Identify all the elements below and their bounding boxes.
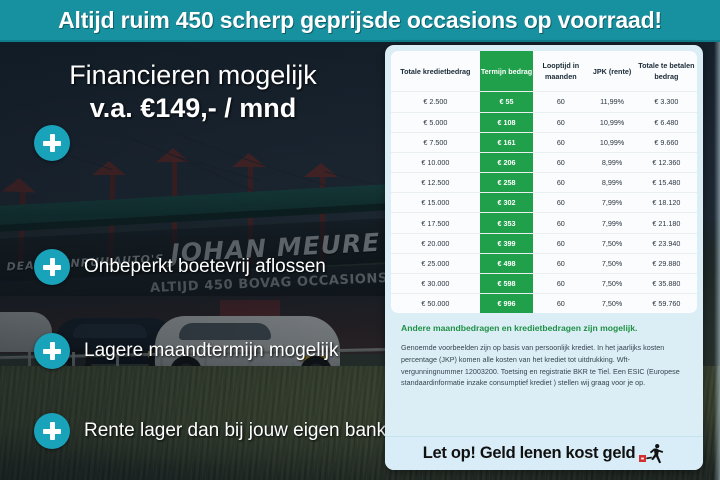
table-cell-totale-te-betalen: € 23.940 (636, 233, 697, 253)
table-cell-jpk: 10,99% (588, 132, 635, 152)
table-cell-termijnbedrag: € 258 (480, 173, 534, 193)
table-cell-kredietbedrag: € 10.000 (391, 152, 480, 172)
table-cell-kredietbedrag: € 15.000 (391, 193, 480, 213)
table-cell-kredietbedrag: € 25.000 (391, 253, 480, 273)
table-cell-termijnbedrag: € 996 (480, 294, 534, 314)
table-cell-kredietbedrag: € 20.000 (391, 233, 480, 253)
table-cell-looptijd: 60 (533, 233, 588, 253)
warning-text: Let op! Geld lenen kost geld (423, 444, 636, 463)
running-man-with-block-icon (639, 443, 665, 465)
plus-icon (34, 333, 70, 369)
table-cell-jpk: 7,50% (588, 274, 635, 294)
table-cell-jpk: 11,99% (588, 92, 635, 112)
table-cell-totale-te-betalen: € 15.480 (636, 173, 697, 193)
credit-rates-card: Totale kredietbedrag Termijn bedrag Loop… (385, 45, 703, 470)
warning-banner: Let op! Geld lenen kost geld (385, 436, 703, 470)
right-edge-glow (714, 42, 720, 480)
note-body: Genoemde voorbeelden zijn op basis van p… (401, 342, 687, 389)
rates-table-container: Totale kredietbedrag Termijn bedrag Loop… (391, 51, 697, 313)
table-cell-looptijd: 60 (533, 274, 588, 294)
table-cell-totale-te-betalen: € 29.880 (636, 253, 697, 273)
table-cell-termijnbedrag: € 498 (480, 253, 534, 273)
table-row: € 17.500€ 353607,99%€ 21.180 (391, 213, 697, 233)
benefit-item-lagere-rente: Rente lager dan bij jouw eigen bank (34, 413, 386, 449)
benefit-item-onbeperkt-aflossen: Onbeperkt boetevrij aflossen (34, 249, 326, 285)
table-cell-termijnbedrag: € 55 (480, 92, 534, 112)
table-cell-kredietbedrag: € 7.500 (391, 132, 480, 152)
table-cell-looptijd: 60 (533, 132, 588, 152)
table-cell-totale-te-betalen: € 21.180 (636, 213, 697, 233)
table-cell-totale-te-betalen: € 3.300 (636, 92, 697, 112)
table-row: € 20.000€ 399607,50%€ 23.940 (391, 233, 697, 253)
plus-icon (34, 125, 70, 161)
table-row: € 25.000€ 498607,50%€ 29.880 (391, 253, 697, 273)
table-row: € 5.000€ 1086010,99%€ 6.480 (391, 112, 697, 132)
table-cell-jpk: 7,99% (588, 193, 635, 213)
table-cell-looptijd: 60 (533, 213, 588, 233)
table-cell-totale-te-betalen: € 12.360 (636, 152, 697, 172)
table-cell-totale-te-betalen: € 35.880 (636, 274, 697, 294)
table-cell-kredietbedrag: € 2.500 (391, 92, 480, 112)
table-cell-totale-te-betalen: € 6.480 (636, 112, 697, 132)
advertisement-banner: DEALER INRUILAUTO'S JOHAN MEURE ALTIJD 4… (0, 0, 720, 480)
table-cell-totale-te-betalen: € 9.660 (636, 132, 697, 152)
plus-icon (34, 413, 70, 449)
headline-line-1: Financieren mogelijk (14, 60, 372, 90)
table-cell-jpk: 8,99% (588, 173, 635, 193)
table-cell-termijnbedrag: € 108 (480, 112, 534, 132)
plus-icon (34, 249, 70, 285)
table-cell-kredietbedrag: € 17.500 (391, 213, 480, 233)
headline: Financieren mogelijk v.a. €149,- / mnd (14, 60, 372, 125)
table-cell-looptijd: 60 (533, 253, 588, 273)
column-header-looptijd: Looptijd in maanden (533, 51, 588, 92)
table-cell-looptijd: 60 (533, 193, 588, 213)
top-header-bar: Altijd ruim 450 scherp geprijsde occasio… (0, 0, 720, 42)
benefit-label: Onbeperkt boetevrij aflossen (84, 256, 326, 278)
table-row: € 7.500€ 1616010,99%€ 9.660 (391, 132, 697, 152)
table-row: € 15.000€ 302607,99%€ 18.120 (391, 193, 697, 213)
table-row: € 50.000€ 996607,50%€ 59.760 (391, 294, 697, 314)
table-cell-looptijd: 60 (533, 173, 588, 193)
table-row: € 10.000€ 206608,99%€ 12.360 (391, 152, 697, 172)
table-cell-termijnbedrag: € 353 (480, 213, 534, 233)
rates-table-body: € 2.500€ 556011,99%€ 3.300€ 5.000€ 10860… (391, 92, 697, 314)
page-title: Altijd ruim 450 scherp geprijsde occasio… (58, 7, 662, 34)
column-header-kredietbedrag: Totale kredietbedrag (391, 51, 480, 92)
table-cell-jpk: 7,50% (588, 253, 635, 273)
disclaimer-note: Andere maandbedragen en kredietbedragen … (385, 313, 703, 389)
table-cell-termijnbedrag: € 206 (480, 152, 534, 172)
note-heading: Andere maandbedragen en kredietbedragen … (401, 322, 687, 335)
headline-line-2: v.a. €149,- / mnd (14, 92, 372, 124)
table-row: € 12.500€ 258608,99%€ 15.480 (391, 173, 697, 193)
column-header-totale-te-betalen: Totale te betalen bedrag (636, 51, 697, 92)
table-cell-jpk: 7,50% (588, 294, 635, 314)
table-cell-jpk: 8,99% (588, 152, 635, 172)
table-cell-kredietbedrag: € 30.000 (391, 274, 480, 294)
column-header-termijnbedrag: Termijn bedrag (480, 51, 534, 92)
table-cell-termijnbedrag: € 399 (480, 233, 534, 253)
table-cell-kredietbedrag: € 12.500 (391, 173, 480, 193)
table-cell-looptijd: 60 (533, 112, 588, 132)
table-cell-termijnbedrag: € 598 (480, 274, 534, 294)
benefit-label: Rente lager dan bij jouw eigen bank (84, 420, 386, 442)
table-header-row: Totale kredietbedrag Termijn bedrag Loop… (391, 51, 697, 92)
table-cell-jpk: 7,50% (588, 233, 635, 253)
benefit-item-lagere-maandtermijn: Lagere maandtermijn mogelijk (34, 333, 339, 369)
table-cell-jpk: 10,99% (588, 112, 635, 132)
table-cell-looptijd: 60 (533, 294, 588, 314)
table-row: € 2.500€ 556011,99%€ 3.300 (391, 92, 697, 112)
table-cell-kredietbedrag: € 5.000 (391, 112, 480, 132)
table-cell-totale-te-betalen: € 59.760 (636, 294, 697, 314)
benefit-label: Lagere maandtermijn mogelijk (84, 340, 339, 362)
table-cell-termijnbedrag: € 161 (480, 132, 534, 152)
table-cell-looptijd: 60 (533, 152, 588, 172)
table-row: € 30.000€ 598607,50%€ 35.880 (391, 274, 697, 294)
column-header-jpk: JPK (rente) (588, 51, 635, 92)
table-cell-totale-te-betalen: € 18.120 (636, 193, 697, 213)
left-content-column: Financieren mogelijk v.a. €149,- / mnd O… (0, 42, 378, 480)
table-cell-jpk: 7,99% (588, 213, 635, 233)
table-cell-termijnbedrag: € 302 (480, 193, 534, 213)
table-cell-looptijd: 60 (533, 92, 588, 112)
table-cell-kredietbedrag: € 50.000 (391, 294, 480, 314)
rates-table: Totale kredietbedrag Termijn bedrag Loop… (391, 51, 697, 313)
